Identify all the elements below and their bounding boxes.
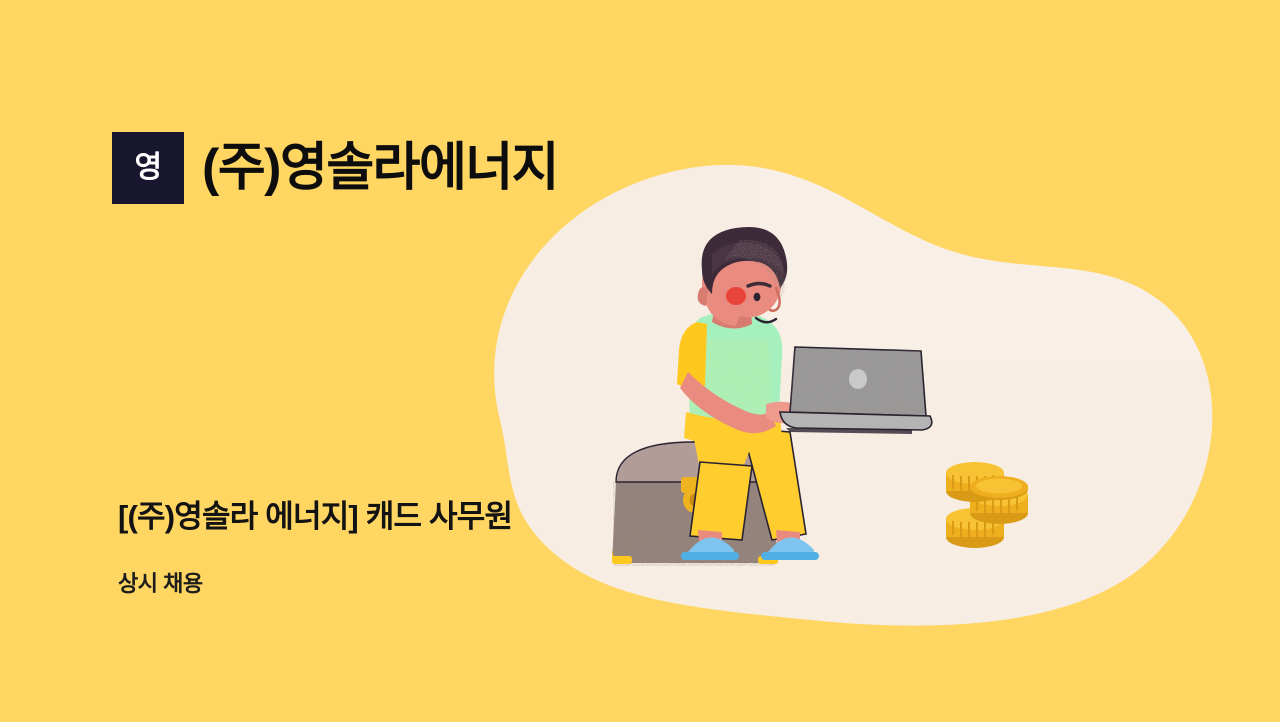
job-posting-card: 영 (주)영솔라에너지 [(주)영솔라 에너지] 캐드 사무원 상시 채용 <box>0 0 1280 722</box>
man-working-on-laptop-illustration <box>0 0 1280 722</box>
company-header: 영 (주)영솔라에너지 <box>112 132 558 204</box>
person-legs <box>690 418 806 552</box>
person-torso <box>677 300 806 446</box>
laptop <box>780 347 932 434</box>
shoes <box>681 537 819 560</box>
company-logo-initial: 영 <box>134 153 161 183</box>
job-title: [(주)영솔라 에너지] 캐드 사무원 <box>118 500 512 534</box>
briefcase <box>605 441 790 572</box>
company-logo-badge: 영 <box>112 132 184 204</box>
background-blob <box>0 0 1280 722</box>
recruit-type-label: 상시 채용 <box>118 572 203 596</box>
coin-stack <box>946 462 1028 548</box>
blob-shape <box>494 165 1212 626</box>
company-name: (주)영솔라에너지 <box>202 142 558 194</box>
person-head <box>698 227 788 326</box>
